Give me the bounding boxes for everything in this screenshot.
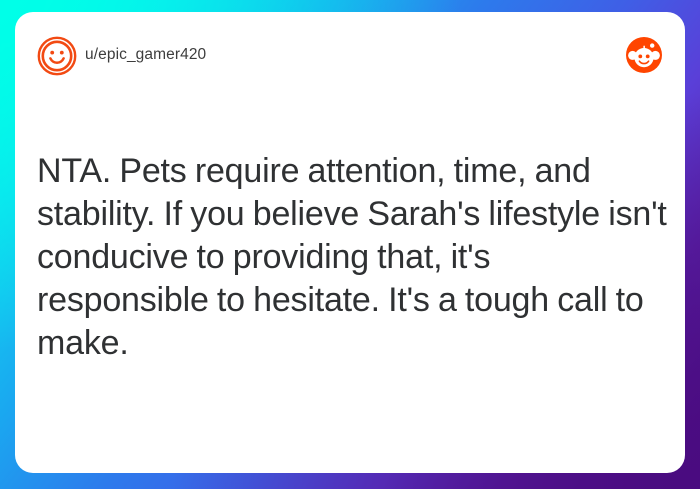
smiley-face-avatar-icon[interactable] bbox=[37, 36, 77, 76]
comment-body-text: NTA. Pets require attention, time, and s… bbox=[37, 150, 667, 365]
reddit-comment-card: u/epic_gamer420 bbox=[15, 12, 685, 473]
username-label: u/epic_gamer420 bbox=[85, 46, 206, 64]
reddit-snoo-logo-icon[interactable] bbox=[625, 36, 663, 74]
card-header: u/epic_gamer420 bbox=[15, 12, 685, 94]
screenshot-canvas: u/epic_gamer420 bbox=[0, 0, 700, 489]
